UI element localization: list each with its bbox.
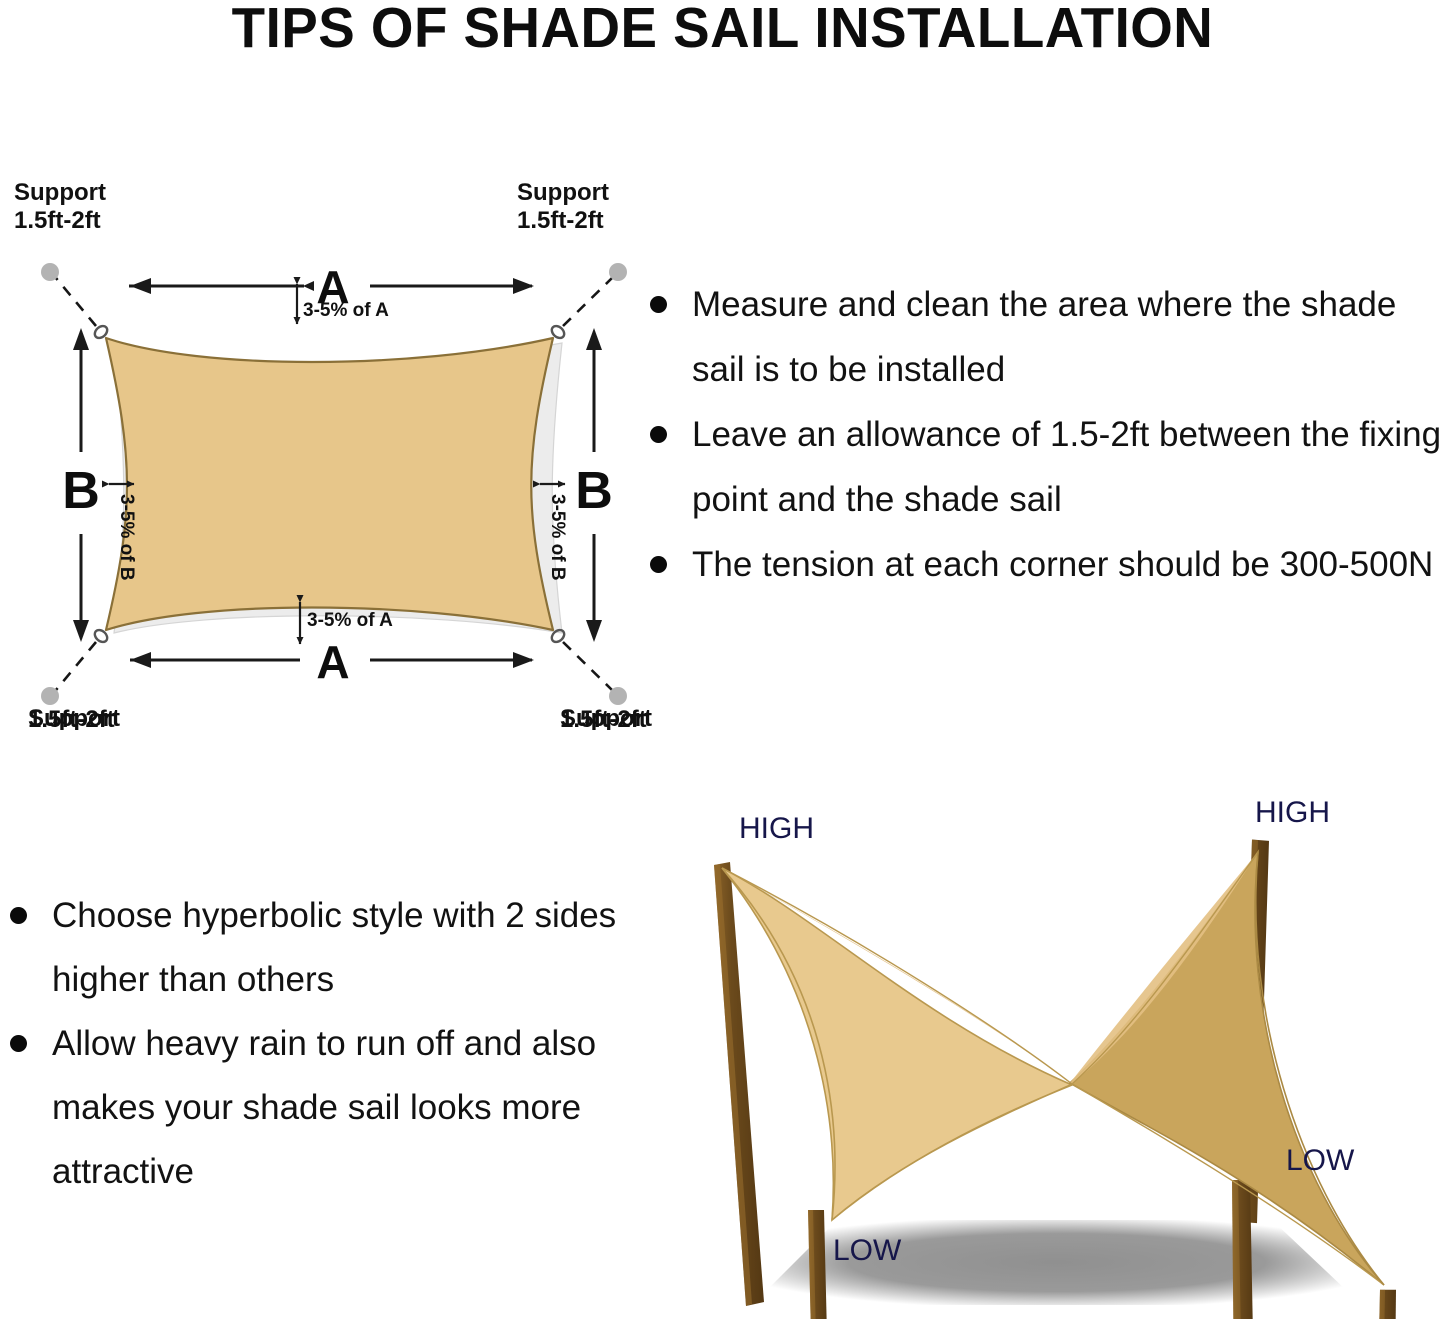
support-labels-bottom-secondline: 1.5ft-2ft 1.5ft-2ft: [0, 700, 680, 740]
dimension-b-right: B: [575, 328, 613, 642]
tip-text: Leave an allowance of 1.5-2ft between th…: [692, 415, 1441, 519]
list-item: Leave an allowance of 1.5-2ft between th…: [640, 402, 1445, 532]
curve-label-right: 3-5% of B: [547, 494, 568, 581]
page-title: TIPS OF SHADE SAIL INSTALLATION: [29, 0, 1416, 60]
post-label-low-left: LOW: [833, 1234, 902, 1267]
tip-text: Measure and clean the area where the sha…: [692, 285, 1396, 389]
sail-lobe-left: [722, 868, 1072, 1220]
support-label-top-right-line2: 1.5ft-2ft: [517, 207, 604, 234]
dimension-label-a-bottom: A: [316, 636, 349, 688]
list-item: Choose hyperbolic style with 2 sides hig…: [0, 884, 640, 1012]
post-label-low-right-text: LOW: [1286, 1144, 1355, 1177]
bullet-dot-icon: [10, 907, 27, 924]
curve-label-top: 3-5% of A: [303, 300, 389, 321]
post-label-high-right: HIGH: [1255, 796, 1330, 829]
tip-text: Allow heavy rain to run off and also mak…: [52, 1024, 596, 1191]
dimension-b-left: B: [62, 328, 100, 642]
post-high-left: [714, 862, 764, 1306]
dimension-label-b-right: B: [575, 462, 613, 520]
rectangular-sail-diagram: A 3-5% of A A 3-5% of A B: [0, 160, 680, 730]
sail-body: [106, 338, 553, 630]
tips-list-left: Choose hyperbolic style with 2 sides hig…: [0, 884, 640, 1204]
support-label-top-left-line1: Support: [14, 179, 106, 206]
dimension-label-b-left: B: [62, 462, 100, 520]
list-item: Allow heavy rain to run off and also mak…: [0, 1012, 640, 1204]
curve-callout-left: 3-5% of B: [109, 484, 137, 581]
tips-list-right: Measure and clean the area where the sha…: [640, 272, 1445, 597]
tip-text: The tension at each corner should be 300…: [692, 545, 1433, 584]
bullet-dot-icon: [10, 1035, 27, 1052]
list-item: The tension at each corner should be 300…: [640, 532, 1445, 597]
support-label-top-left: Support 1.5ft-2ft: [14, 179, 106, 234]
post-label-high-left: HIGH: [739, 812, 814, 845]
bullet-dot-icon: [650, 296, 667, 313]
infographic-page: TIPS OF SHADE SAIL INSTALLATION: [0, 0, 1445, 1319]
bullet-dot-icon: [650, 426, 667, 443]
curve-label-left: 3-5% of B: [116, 494, 137, 581]
list-item: Measure and clean the area where the sha…: [640, 272, 1445, 402]
post-low-right: [1376, 1290, 1396, 1319]
post-low-left: [808, 1210, 828, 1319]
hyperbolic-sail-illustration: HIGH HIGH LOW LOW: [672, 780, 1445, 1319]
dimension-a-bottom: A: [130, 636, 534, 688]
post-label-low-right-wrapper: LOW: [1280, 1130, 1440, 1190]
support-label-bottom-left-line2: 1.5ft-2ft: [28, 706, 115, 733]
support-label-bottom-right-line2: 1.5ft-2ft: [560, 706, 647, 733]
support-label-top-right-line1: Support: [517, 179, 609, 206]
curve-label-bottom: 3-5% of A: [307, 610, 393, 631]
bullet-dot-icon: [650, 556, 667, 573]
support-label-top-right: Support 1.5ft-2ft: [517, 179, 609, 234]
tip-text: Choose hyperbolic style with 2 sides hig…: [52, 896, 616, 999]
support-label-top-left-line2: 1.5ft-2ft: [14, 207, 101, 234]
